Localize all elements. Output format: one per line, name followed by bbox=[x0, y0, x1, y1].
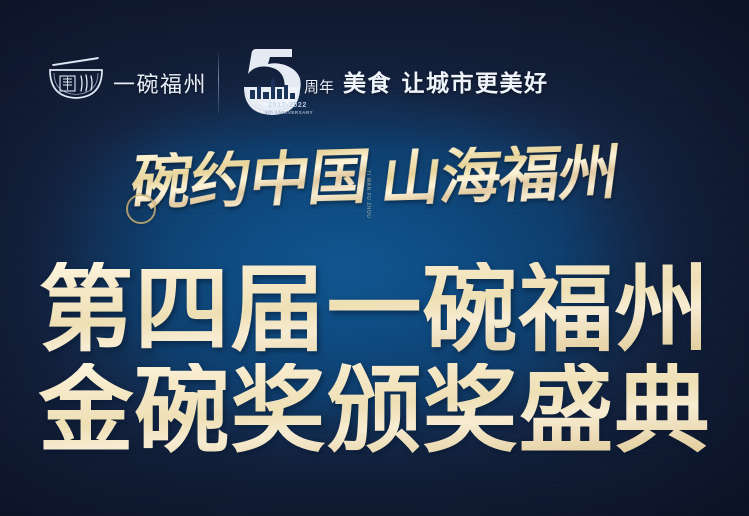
bowl-seal-icon bbox=[48, 66, 104, 100]
calligraphy-right: 山海福州 bbox=[378, 143, 623, 210]
poster-canvas: 一碗福州 bbox=[0, 0, 749, 516]
header-slogan: 美食 让城市更美好 bbox=[343, 72, 549, 95]
main-title-line-2: 金碗奖颁奖盛典 bbox=[0, 363, 749, 458]
anniversary-badge: 周年 2017-2022 5th ANNIVERSARY bbox=[232, 46, 332, 122]
main-title-block: 第四届一碗福州 金碗奖颁奖盛典 bbox=[0, 262, 749, 458]
header-divider-icon bbox=[218, 52, 219, 114]
anniversary-en-label: 5th ANNIVERSARY bbox=[265, 111, 313, 116]
brand-logo bbox=[48, 56, 104, 102]
header-bar: 一碗福州 bbox=[0, 24, 749, 98]
calligraphy-watermark: YI WAN FU ZHOU bbox=[352, 170, 372, 216]
chopsticks-icon bbox=[52, 57, 100, 66]
round-seal-stamp-icon bbox=[126, 194, 156, 224]
brand-lockup: 一碗福州 bbox=[48, 56, 207, 102]
calligraphy-row: 碗约中国 YI WAN FU ZHOU 山海福州 bbox=[0, 144, 749, 226]
main-title-line-1: 第四届一碗福州 bbox=[0, 262, 749, 357]
anniversary-cn-label: 周年 bbox=[304, 80, 334, 95]
calligraphy-left: 碗约中国 bbox=[128, 147, 373, 214]
brand-name: 一碗福州 bbox=[113, 75, 207, 102]
